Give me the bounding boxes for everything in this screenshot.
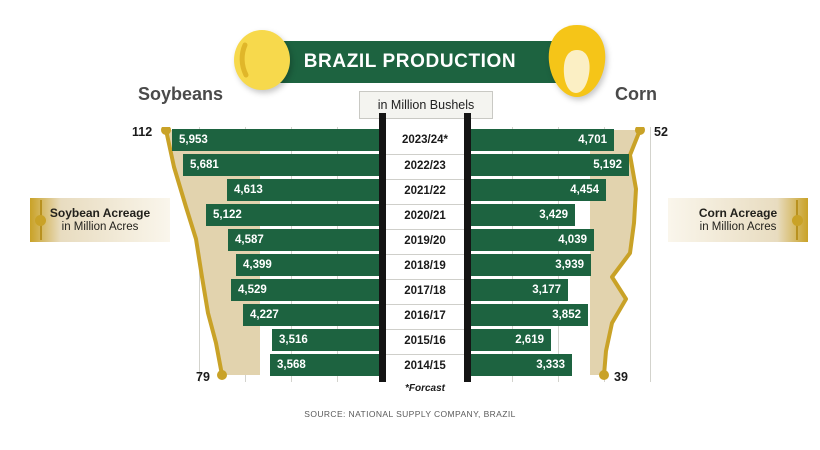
- bar-value: 4,039: [558, 229, 587, 251]
- corn-acreage-callout: Corn Acreage in Million Acres: [668, 198, 808, 242]
- bar-soybeans-2020-21[interactable]: 5,122: [206, 204, 379, 226]
- right-crop-label: Corn: [615, 84, 657, 105]
- bar-corn-2023-24[interactable]: 4,701: [471, 129, 614, 151]
- chart-plot: 5,953 5,681 4,613 5,122 4,587 4,399 4,52…: [0, 127, 820, 387]
- bar-value: 3,568: [277, 354, 306, 376]
- bar-value: 4,454: [570, 179, 599, 201]
- bar-value: 3,177: [532, 279, 561, 301]
- bar-value: 5,192: [593, 154, 622, 176]
- bar-value: 5,953: [179, 129, 208, 151]
- bar-value: 3,939: [555, 254, 584, 276]
- bar-soybeans-2019-20[interactable]: 4,587: [228, 229, 379, 251]
- bar-value: 4,399: [243, 254, 272, 276]
- page-title: BRAZIL PRODUCTION: [255, 41, 565, 83]
- bar-soybeans-2016-17[interactable]: 4,227: [243, 304, 379, 326]
- callout-title: Soybean Acreage: [50, 206, 150, 220]
- corn-kernel-icon: [546, 24, 608, 98]
- year-label: 2014/15: [386, 354, 464, 377]
- year-label: 2022/23: [386, 154, 464, 177]
- bar-soybeans-2023-24[interactable]: 5,953: [172, 129, 379, 151]
- infographic-root: BRAZIL PRODUCTION Soybeans Corn in Milli…: [0, 0, 820, 450]
- callout-title: Corn Acreage: [699, 206, 777, 220]
- center-rail-right: [464, 113, 471, 382]
- bar-value: 4,587: [235, 229, 264, 251]
- year-column: 2023/24* 2022/23 2021/22 2020/21 2019/20…: [386, 127, 464, 382]
- bar-corn-2022-23[interactable]: 5,192: [471, 154, 629, 176]
- bar-value: 5,681: [190, 154, 219, 176]
- center-rail-left: [379, 113, 386, 382]
- year-label: 2017/18: [386, 279, 464, 302]
- corn-acreage-bottom-value: 39: [614, 370, 628, 384]
- bar-corn-2019-20[interactable]: 4,039: [471, 229, 594, 251]
- bar-soybeans-2017-18[interactable]: 4,529: [231, 279, 379, 301]
- year-label: 2019/20: [386, 229, 464, 252]
- bar-corn-2016-17[interactable]: 3,852: [471, 304, 588, 326]
- bar-value: 3,516: [279, 329, 308, 351]
- bar-soybeans-2021-22[interactable]: 4,613: [227, 179, 379, 201]
- bar-corn-2014-15[interactable]: 3,333: [471, 354, 572, 376]
- bar-corn-2021-22[interactable]: 4,454: [471, 179, 606, 201]
- year-label: 2023/24*: [386, 129, 464, 151]
- year-label: 2018/19: [386, 254, 464, 277]
- bar-value: 4,701: [578, 129, 607, 151]
- bar-soybeans-2014-15[interactable]: 3,568: [270, 354, 379, 376]
- bar-soybeans-2018-19[interactable]: 4,399: [236, 254, 379, 276]
- bar-corn-2017-18[interactable]: 3,177: [471, 279, 568, 301]
- bar-corn-2018-19[interactable]: 3,939: [471, 254, 591, 276]
- left-crop-label: Soybeans: [138, 84, 223, 105]
- corn-acreage-top-value: 52: [654, 125, 668, 139]
- bar-value: 4,227: [250, 304, 279, 326]
- soybean-acreage-bottom-value: 79: [196, 370, 210, 384]
- bar-corn-2020-21[interactable]: 3,429: [471, 204, 575, 226]
- forecast-note: *Forcast: [386, 383, 464, 394]
- soybean-acreage-callout: Soybean Acreage in Million Acres: [30, 198, 170, 242]
- bar-soybeans-2022-23[interactable]: 5,681: [183, 154, 379, 176]
- soybean-icon: [232, 29, 292, 91]
- bar-value: 4,613: [234, 179, 263, 201]
- callout-knob-icon: [35, 215, 46, 226]
- year-label: 2016/17: [386, 304, 464, 327]
- bar-value: 4,529: [238, 279, 267, 301]
- callout-subtitle: in Million Acres: [62, 220, 139, 234]
- bar-value: 3,429: [539, 204, 568, 226]
- callout-subtitle: in Million Acres: [700, 220, 777, 234]
- callout-knob-icon: [792, 215, 803, 226]
- year-label: 2021/22: [386, 179, 464, 202]
- source-note: SOURCE: NATIONAL SUPPLY COMPANY, BRAZIL: [0, 409, 820, 419]
- bar-soybeans-2015-16[interactable]: 3,516: [272, 329, 379, 351]
- bar-corn-2015-16[interactable]: 2,619: [471, 329, 551, 351]
- year-label: 2020/21: [386, 204, 464, 227]
- year-label: 2015/16: [386, 329, 464, 352]
- bar-value: 3,852: [552, 304, 581, 326]
- bar-value: 3,333: [536, 354, 565, 376]
- bar-value: 5,122: [213, 204, 242, 226]
- bar-value: 2,619: [515, 329, 544, 351]
- title-banner: BRAZIL PRODUCTION: [255, 41, 565, 83]
- soybean-acreage-top-value: 112: [132, 125, 152, 139]
